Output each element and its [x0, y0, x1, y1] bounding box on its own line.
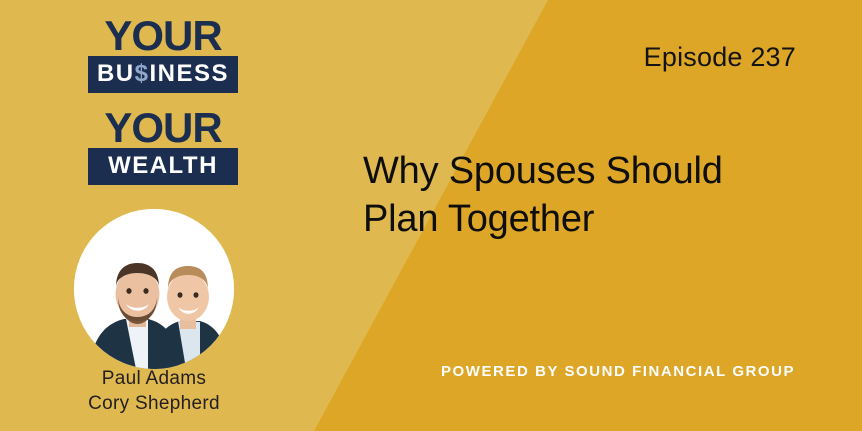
host-name-primary: Paul Adams: [0, 366, 308, 391]
hosts-portrait-illustration: [74, 209, 234, 369]
podcast-episode-card: YOUR BU$INESS YOUR WEALTH: [0, 0, 862, 431]
logo-block-your-business: YOUR BU$INESS: [88, 16, 238, 93]
logo-word-your-top: YOUR: [88, 16, 238, 56]
host-name-secondary: Cory Shepherd: [0, 391, 308, 416]
logo-bar-business: BU$INESS: [88, 56, 238, 93]
logo-business-suffix: INESS: [150, 60, 230, 87]
hosts-portrait-avatar: [74, 209, 234, 369]
logo-word-your-bottom: YOUR: [88, 108, 238, 148]
episode-number: Episode 237: [644, 42, 796, 73]
logo-business-prefix: BU: [97, 60, 135, 87]
logo-bar-wealth: WEALTH: [88, 148, 238, 185]
episode-title-line-2: Plan Together: [363, 196, 833, 244]
hosts-names: Paul Adams Cory Shepherd: [0, 366, 308, 416]
episode-title-line-1: Why Spouses Should: [363, 148, 833, 196]
episode-title: Why Spouses Should Plan Together: [363, 148, 833, 244]
dollar-sign-icon: $: [135, 60, 150, 87]
powered-by-label: POWERED BY SOUND FINANCIAL GROUP: [441, 363, 795, 380]
logo-block-your-wealth: YOUR WEALTH: [88, 108, 238, 185]
brand-logo: YOUR BU$INESS YOUR WEALTH: [88, 16, 238, 185]
